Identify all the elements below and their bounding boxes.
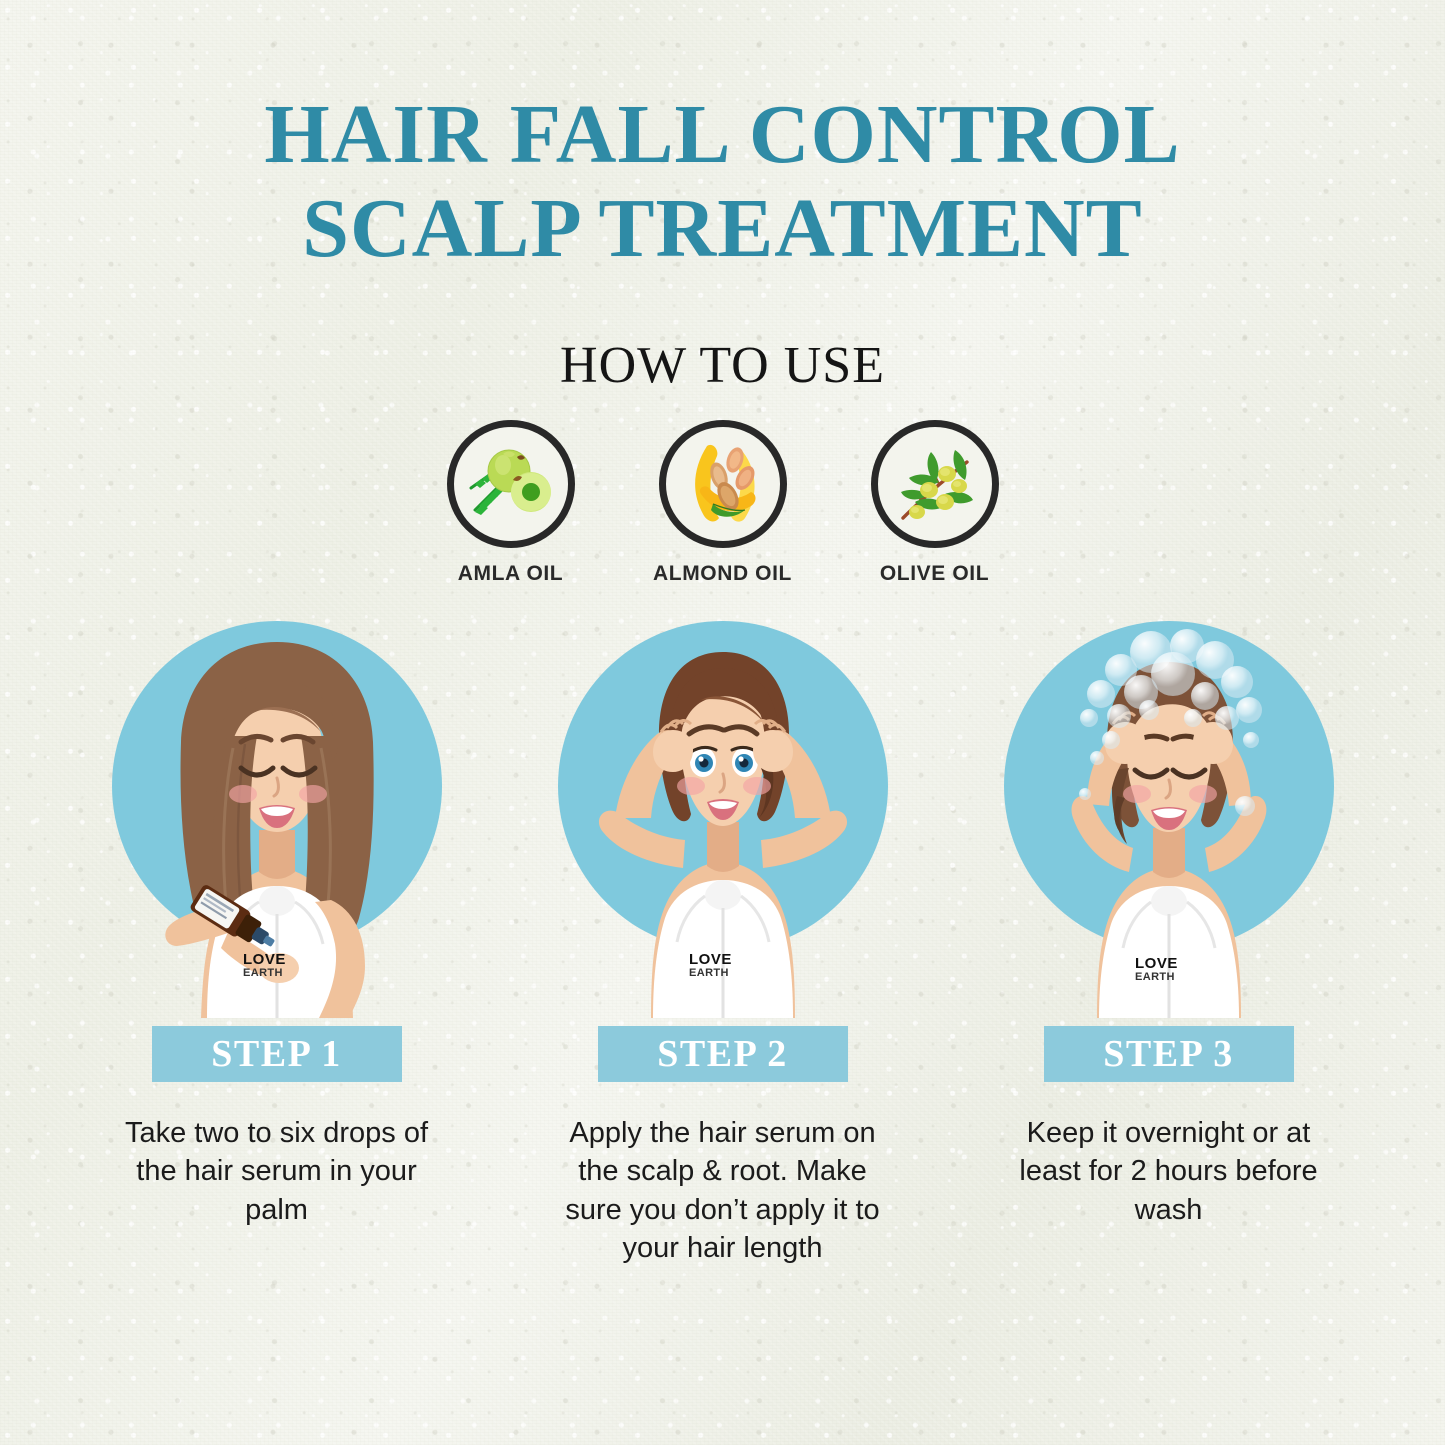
olive-oil-icon: [871, 420, 999, 548]
svg-text:LOVE: LOVE: [689, 951, 732, 968]
step-3-label: STEP 3: [1103, 1032, 1233, 1076]
ingredient-label: OLIVE OIL: [855, 562, 1015, 586]
step-3-description: Keep it overnight or at least for 2 hour…: [1004, 1114, 1334, 1229]
title-line-2: SCALP TREATMENT: [0, 182, 1445, 276]
step-1-bar: STEP 1: [152, 1026, 402, 1082]
amla-oil-icon: [447, 420, 575, 548]
ingredient-olive-oil: OLIVE OIL: [855, 420, 1015, 586]
step-2-description: Apply the hair serum on the scalp & root…: [558, 1114, 888, 1267]
step-2-label: STEP 2: [657, 1032, 787, 1076]
step-2-bar: STEP 2: [598, 1026, 848, 1082]
ingredient-almond-oil: ALMOND OIL: [643, 420, 803, 586]
page-title: HAIR FALL CONTROL SCALP TREATMENT: [0, 88, 1445, 276]
step-1-illustration: LOVE EARTH: [109, 618, 445, 1018]
svg-text:EARTH: EARTH: [1135, 971, 1175, 983]
step-card-3: LOVE EARTH STEP 3 Keep it overnight or a…: [1001, 618, 1337, 1267]
svg-text:EARTH: EARTH: [689, 967, 729, 979]
svg-text:LOVE: LOVE: [243, 951, 286, 968]
steps-row: LOVE EARTH STEP 1 Take two to six drops …: [0, 618, 1445, 1267]
title-line-1: HAIR FALL CONTROL: [0, 88, 1445, 182]
step-1-label: STEP 1: [211, 1032, 341, 1076]
ingredient-label: AMLA OIL: [431, 562, 591, 586]
step-2-illustration: LOVE EARTH: [555, 618, 891, 1018]
step-card-1: LOVE EARTH STEP 1 Take two to six drops …: [109, 618, 445, 1267]
step-3-illustration: LOVE EARTH: [1001, 618, 1337, 1018]
step-3-bar: STEP 3: [1044, 1026, 1294, 1082]
svg-text:EARTH: EARTH: [243, 967, 283, 979]
how-to-use-heading: HOW TO USE: [0, 336, 1445, 395]
almond-oil-icon: [659, 420, 787, 548]
step-1-description: Take two to six drops of the hair serum …: [112, 1114, 442, 1229]
svg-text:LOVE: LOVE: [1135, 955, 1178, 972]
ingredient-amla-oil: AMLA OIL: [431, 420, 591, 586]
step-card-2: LOVE EARTH STEP 2 Apply the hair serum o…: [555, 618, 891, 1267]
ingredient-label: ALMOND OIL: [643, 562, 803, 586]
ingredients-row: AMLA OIL ALMOND OIL: [0, 420, 1445, 586]
